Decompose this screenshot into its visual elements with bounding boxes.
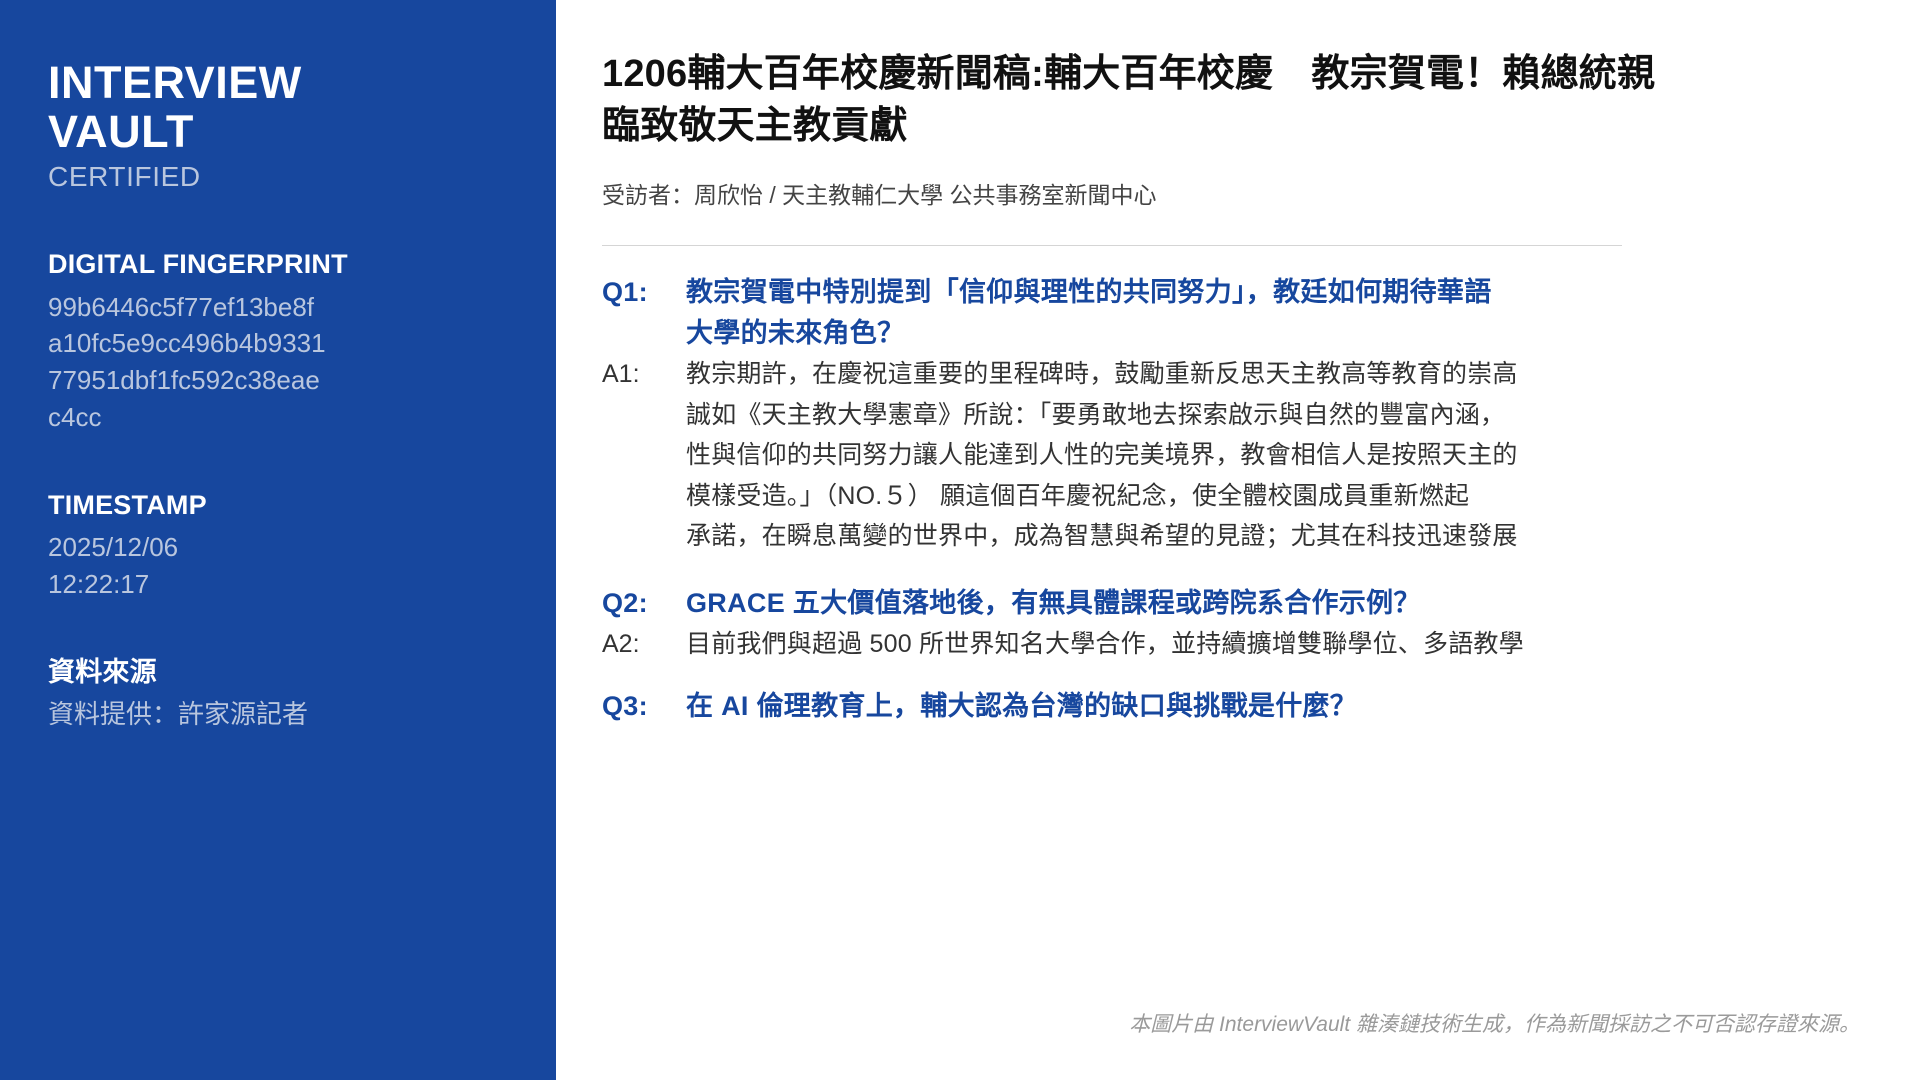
qa-item-3: Q3: 在 AI 倫理教育上，輔大認為台灣的缺口與挑戰是什麼？: [602, 686, 1920, 727]
brand-subtitle: CERTIFIED: [48, 159, 504, 195]
brand-line-2: VAULT: [48, 107, 504, 156]
brand-line-1: INTERVIEW: [48, 58, 504, 107]
page-title-line: 臨致敬天主教貢獻: [602, 100, 1920, 152]
timestamp-title: TIMESTAMP: [48, 488, 504, 523]
answer-row: A1: 教宗期許，在慶祝這重要的里程碑時，鼓勵重新反思天主教高等教育的崇高 誠如…: [602, 354, 1920, 557]
answer-line: 誠如《天主教大學憲章》所說：「要勇敢地去探索啟示與自然的豐富內涵，: [686, 395, 1518, 436]
answer-line: 性與信仰的共同努力讓人能達到人性的完美境界，教會相信人是按照天主的: [686, 435, 1518, 476]
fingerprint-line: 99b6446c5f77ef13be8f: [48, 289, 398, 326]
question-line: GRACE 五大價值落地後，有無具體課程或跨院系合作示例？: [686, 583, 1421, 624]
answer-text: 教宗期許，在慶祝這重要的里程碑時，鼓勵重新反思天主教高等教育的崇高 誠如《天主教…: [686, 354, 1518, 557]
timestamp-date: 2025/12/06: [48, 529, 398, 566]
source-section: 資料來源 資料提供：許家源記者: [48, 655, 504, 733]
fingerprint-line: a10fc5e9cc496b4b9331: [48, 325, 398, 362]
question-row: Q1: 教宗賀電中特別提到「信仰與理性的共同努力」，教廷如何期待華語 大學的未來…: [602, 272, 1920, 354]
question-line: 大學的未來角色？: [686, 313, 1492, 354]
question-label: Q2:: [602, 583, 686, 624]
answer-line: 模樣受造。」（NO.５） 願這個百年慶祝紀念，使全體校園成員重新燃起: [686, 476, 1518, 517]
question-label: Q3:: [602, 686, 686, 727]
footer-disclaimer: 本圖片由 InterviewVault 雜湊鏈技術生成，作為新聞採訪之不可否認存…: [1129, 1008, 1860, 1038]
source-value: 資料提供：許家源記者: [48, 696, 398, 733]
timestamp-section: TIMESTAMP 2025/12/06 12:22:17: [48, 488, 504, 603]
fingerprint-line: 77951dbf1fc592c38eae: [48, 362, 398, 399]
page-title: 1206輔大百年校慶新聞稿:輔大百年校慶 教宗賀電！賴總統親 臨致敬天主教貢獻: [602, 48, 1920, 153]
fingerprint-line: c4cc: [48, 399, 398, 436]
timestamp-time: 12:22:17: [48, 566, 398, 603]
source-title: 資料來源: [48, 655, 504, 690]
fingerprint-title: DIGITAL FINGERPRINT: [48, 247, 504, 282]
question-text: 在 AI 倫理教育上，輔大認為台灣的缺口與挑戰是什麼？: [686, 686, 1357, 727]
question-row: Q3: 在 AI 倫理教育上，輔大認為台灣的缺口與挑戰是什麼？: [602, 686, 1920, 727]
answer-text: 目前我們與超過 500 所世界知名大學合作，並持續擴增雙聯學位、多語教學: [686, 624, 1524, 665]
page-title-line: 1206輔大百年校慶新聞稿:輔大百年校慶 教宗賀電！賴總統親: [602, 48, 1920, 100]
question-text: 教宗賀電中特別提到「信仰與理性的共同努力」，教廷如何期待華語 大學的未來角色？: [686, 272, 1492, 354]
brand-block: INTERVIEW VAULT CERTIFIED: [48, 58, 504, 195]
question-row: Q2: GRACE 五大價值落地後，有無具體課程或跨院系合作示例？: [602, 583, 1920, 624]
question-label: Q1:: [602, 272, 686, 313]
answer-label: A2:: [602, 624, 686, 665]
answer-line: 承諾，在瞬息萬變的世界中，成為智慧與希望的見證；尤其在科技迅速發展: [686, 516, 1518, 557]
qa-item-1: Q1: 教宗賀電中特別提到「信仰與理性的共同努力」，教廷如何期待華語 大學的未來…: [602, 272, 1920, 557]
title-divider: [602, 245, 1622, 246]
fingerprint-value: 99b6446c5f77ef13be8f a10fc5e9cc496b4b933…: [48, 289, 398, 437]
question-line: 在 AI 倫理教育上，輔大認為台灣的缺口與挑戰是什麼？: [686, 686, 1357, 727]
answer-row: A2: 目前我們與超過 500 所世界知名大學合作，並持續擴增雙聯學位、多語教學: [602, 624, 1920, 665]
interviewee-line: 受訪者：周欣怡 / 天主教輔仁大學 公共事務室新聞中心: [602, 179, 1920, 211]
answer-label: A1:: [602, 354, 686, 395]
certificate-page: INTERVIEW VAULT CERTIFIED DIGITAL FINGER…: [0, 0, 1920, 1080]
question-text: GRACE 五大價值落地後，有無具體課程或跨院系合作示例？: [686, 583, 1421, 624]
sidebar: INTERVIEW VAULT CERTIFIED DIGITAL FINGER…: [0, 0, 556, 1080]
main-content: 1206輔大百年校慶新聞稿:輔大百年校慶 教宗賀電！賴總統親 臨致敬天主教貢獻 …: [556, 0, 1920, 1080]
answer-line: 目前我們與超過 500 所世界知名大學合作，並持續擴增雙聯學位、多語教學: [686, 624, 1524, 665]
qa-item-2: Q2: GRACE 五大價值落地後，有無具體課程或跨院系合作示例？ A2: 目前…: [602, 583, 1920, 665]
answer-line: 教宗期許，在慶祝這重要的里程碑時，鼓勵重新反思天主教高等教育的崇高: [686, 354, 1518, 395]
fingerprint-section: DIGITAL FINGERPRINT 99b6446c5f77ef13be8f…: [48, 247, 504, 436]
timestamp-value: 2025/12/06 12:22:17: [48, 529, 398, 603]
question-line: 教宗賀電中特別提到「信仰與理性的共同努力」，教廷如何期待華語: [686, 272, 1492, 313]
